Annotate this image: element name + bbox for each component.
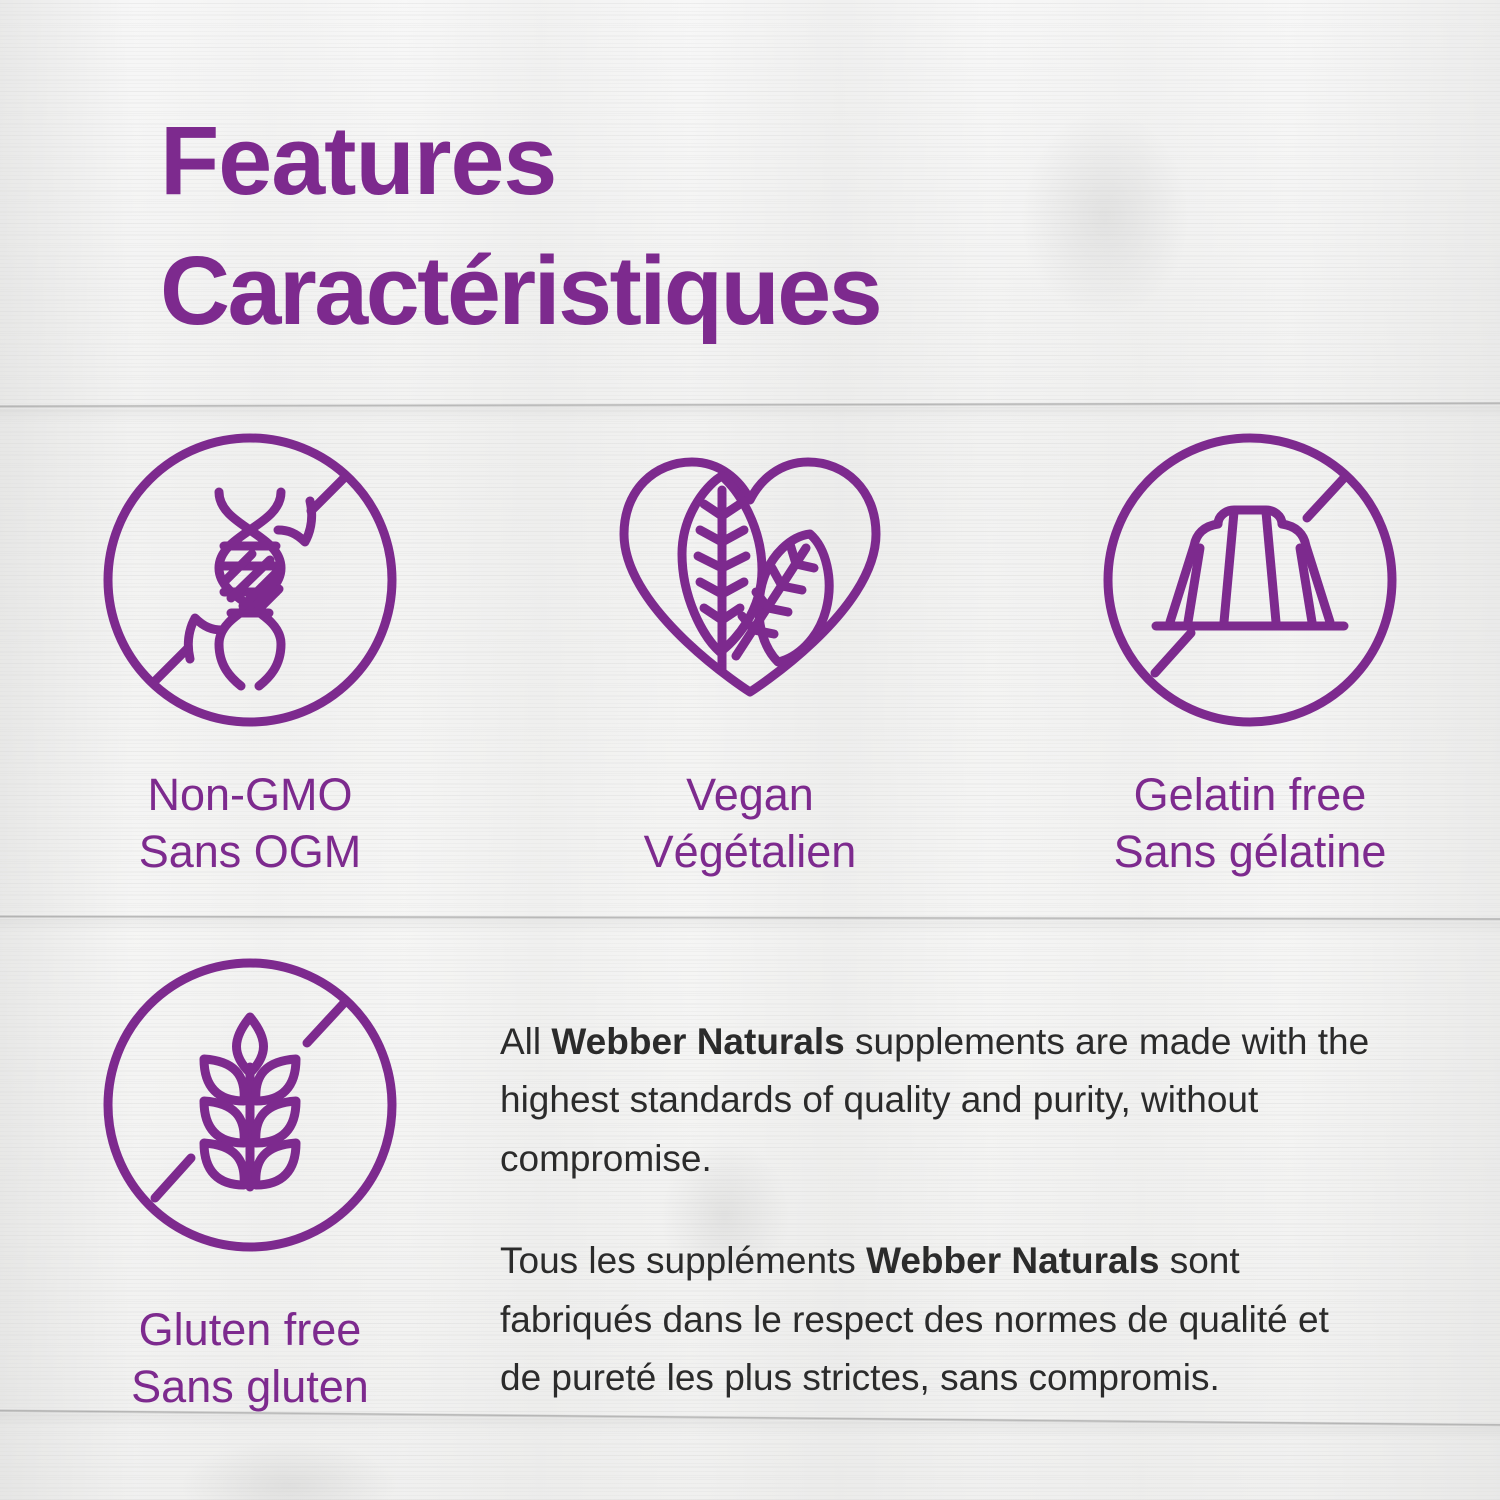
caption-en: Non-GMO [139,766,362,823]
feature-non-gmo: Non-GMO Sans OGM [0,430,500,880]
feature-gluten-free: Gluten free Sans gluten [0,955,500,1415]
page-title: Features Caractéristiques [160,96,880,356]
caption-fr: Sans OGM [139,823,362,880]
caption-fr: Sans gélatine [1114,823,1387,880]
caption-fr: Végétalien [644,823,857,880]
plank-seam-1-shadow [0,405,1500,422]
no-gluten-wheat-icon [100,955,400,1255]
no-gmo-dna-icon [100,430,400,730]
feature-row-top: Non-GMO Sans OGM [0,430,1500,880]
feature-caption-vegan: Vegan Végétalien [644,766,857,880]
description-paragraph-en: All Webber Naturals supplements are made… [500,1013,1380,1188]
feature-caption-gluten-free: Gluten free Sans gluten [131,1301,369,1415]
caption-fr: Sans gluten [131,1358,369,1415]
feature-caption-non-gmo: Non-GMO Sans OGM [139,766,362,880]
desc-en-before: All [500,1021,551,1062]
infographic-canvas: Features Caractéristiques [0,0,1500,1500]
page-title-line-en: Features [160,96,880,226]
feature-vegan: Vegan Végétalien [500,430,1000,880]
description-paragraph-fr: Tous les suppléments Webber Naturals son… [500,1232,1380,1407]
feature-gelatin-free: Gelatin free Sans gélatine [1000,430,1500,880]
brand-description: All Webber Naturals supplements are made… [500,955,1480,1408]
feature-row-bottom: Gluten free Sans gluten All Webber Natur… [0,955,1500,1415]
vegan-heart-leaves-icon [600,430,900,730]
desc-fr-brand: Webber Naturals [866,1240,1159,1281]
caption-en: Gelatin free [1114,766,1387,823]
caption-en: Vegan [644,766,857,823]
wood-knot-3 [180,1440,400,1500]
feature-caption-gelatin-free: Gelatin free Sans gélatine [1114,766,1387,880]
page-title-line-fr: Caractéristiques [160,226,880,356]
wood-knot-1 [1020,110,1190,320]
plank-seam-2-shadow [0,919,1500,936]
no-gelatin-icon [1100,430,1400,730]
caption-en: Gluten free [131,1301,369,1358]
desc-en-brand: Webber Naturals [551,1021,844,1062]
desc-fr-before: Tous les suppléments [500,1240,866,1281]
